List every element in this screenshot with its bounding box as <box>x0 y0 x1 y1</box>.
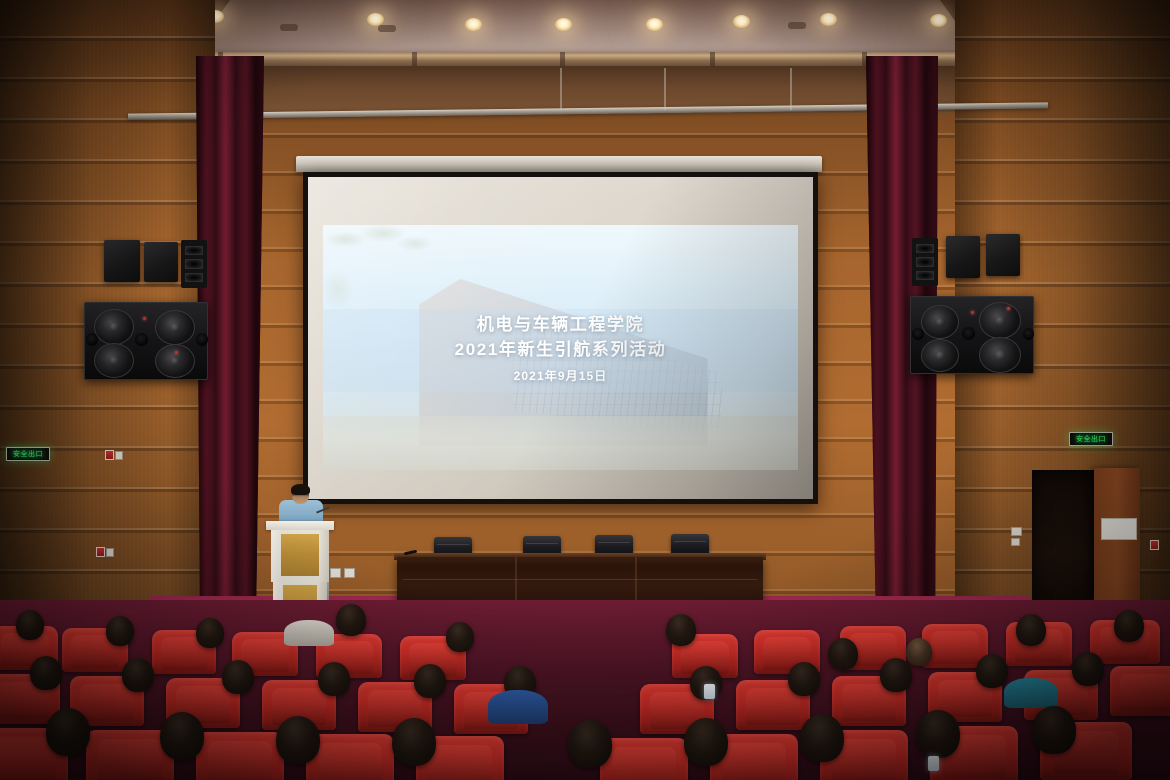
audience-seat <box>600 738 688 780</box>
audience-head <box>828 638 858 670</box>
audience-shoulders <box>1004 678 1058 708</box>
woofer-driver <box>155 344 195 378</box>
audience-seat <box>1110 666 1170 716</box>
audience-shoulders <box>284 620 334 646</box>
speaker-satellite <box>986 234 1020 276</box>
podium-front-panel-upper <box>281 534 319 576</box>
presenter-hair <box>291 484 310 495</box>
audience-head <box>880 658 912 692</box>
ceiling-downlight <box>646 18 663 31</box>
ceiling-vent <box>378 25 396 32</box>
speaker-satellite <box>946 236 980 278</box>
audience-head <box>976 654 1008 688</box>
door-notice-sign <box>1101 518 1137 540</box>
audience-head <box>196 618 224 648</box>
ceiling-downlight <box>930 14 947 27</box>
horn-array-unit <box>181 240 207 288</box>
audience-head <box>160 712 204 760</box>
audience-head <box>318 662 350 696</box>
speaker-status-led <box>175 351 178 354</box>
audience-head <box>336 604 366 636</box>
audience-head <box>222 660 254 694</box>
audience-head <box>106 616 134 646</box>
bass-cabinet <box>84 302 208 380</box>
truss-drop-wire <box>790 68 792 110</box>
woofer-driver <box>979 337 1021 373</box>
woofer-driver <box>921 305 959 339</box>
fire-alarm-call-point <box>96 547 114 557</box>
audience-head <box>46 708 90 756</box>
audience-head <box>446 622 474 652</box>
truss-drop-wire <box>664 68 666 110</box>
speaker-status-led <box>971 311 974 314</box>
woofer-driver <box>94 343 134 378</box>
bass-port <box>86 333 98 346</box>
speaker-satellite <box>144 242 178 282</box>
audience-head <box>568 720 612 768</box>
exit-sign-right-label: 安全出口 <box>1076 434 1106 444</box>
speaker-status-led <box>1007 307 1010 310</box>
ceiling-downlight <box>820 13 837 26</box>
bass-port <box>196 333 208 346</box>
ceiling-vent <box>280 24 298 31</box>
horn-array-unit <box>912 238 938 286</box>
slide-title-line-2: 2021年新生引航系列活动 <box>323 338 798 363</box>
audience-head <box>666 614 696 646</box>
slide-title-line-1: 机电与车辆工程学院 <box>323 313 798 338</box>
audience-phone-screen <box>704 684 715 699</box>
fire-alarm-call-point <box>1150 540 1159 550</box>
projector-screen-housing <box>296 156 822 172</box>
stage-wall-sockets[interactable] <box>330 568 355 578</box>
audience-head <box>1114 610 1144 642</box>
slide-date: 2021年9月15日 <box>323 367 798 384</box>
ceiling-downlight <box>555 18 572 31</box>
right-speaker-array <box>908 232 1034 378</box>
audience-head <box>1072 652 1104 686</box>
audience-head <box>414 664 446 698</box>
audience-head <box>122 658 154 692</box>
exit-sign-left: 安全出口 <box>6 447 50 461</box>
audience-head <box>800 714 844 762</box>
screen-surface: 机电与车辆工程学院 2021年新生引航系列活动 2021年9月15日 <box>308 177 813 499</box>
woofer-driver <box>921 339 959 372</box>
bass-port <box>962 327 975 340</box>
audience-head <box>916 710 960 758</box>
audience-head <box>1016 614 1046 646</box>
audience-head <box>1032 706 1076 754</box>
ceiling-vent <box>788 22 806 29</box>
bass-port <box>1023 328 1034 340</box>
audience-head <box>276 716 320 764</box>
fire-alarm-call-point <box>105 450 123 460</box>
bass-port <box>135 333 148 346</box>
ceiling-downlight <box>465 18 482 31</box>
ceiling-downlight <box>733 15 750 28</box>
audience-head <box>30 656 62 690</box>
auditorium-photo: 机电与车辆工程学院 2021年新生引航系列活动 2021年9月15日 安全出口 … <box>0 0 1170 780</box>
projected-slide: 机电与车辆工程学院 2021年新生引航系列活动 2021年9月15日 <box>323 225 798 470</box>
audience-head <box>788 662 820 696</box>
woofer-driver <box>155 310 195 345</box>
audience-shoulders <box>488 690 548 724</box>
audience-head <box>16 610 44 640</box>
audience-phone-screen <box>928 756 939 771</box>
left-speaker-array <box>84 236 210 382</box>
exit-sign-right: 安全出口 <box>1069 432 1113 446</box>
audience-seating <box>0 600 1170 780</box>
speaker-satellite <box>104 240 140 282</box>
bass-port <box>912 328 924 340</box>
projection-screen: 机电与车辆工程学院 2021年新生引航系列活动 2021年9月15日 <box>303 172 818 504</box>
audience-seat <box>196 732 284 780</box>
truss-drop-wire <box>560 68 562 110</box>
exit-sign-left-label: 安全出口 <box>13 449 43 459</box>
woofer-driver <box>979 302 1021 339</box>
slide-text-block: 机电与车辆工程学院 2021年新生引航系列活动 2021年9月15日 <box>323 313 798 383</box>
speaker-status-led <box>143 317 146 320</box>
audience-head <box>906 638 932 666</box>
woofer-driver <box>94 309 134 345</box>
audience-head <box>684 718 728 766</box>
bass-cabinet <box>910 296 1034 374</box>
wall-data-plate[interactable] <box>1011 538 1020 546</box>
audience-head <box>392 718 436 766</box>
wall-switch-plate[interactable] <box>1011 527 1022 536</box>
podium-top-surface <box>266 521 334 530</box>
